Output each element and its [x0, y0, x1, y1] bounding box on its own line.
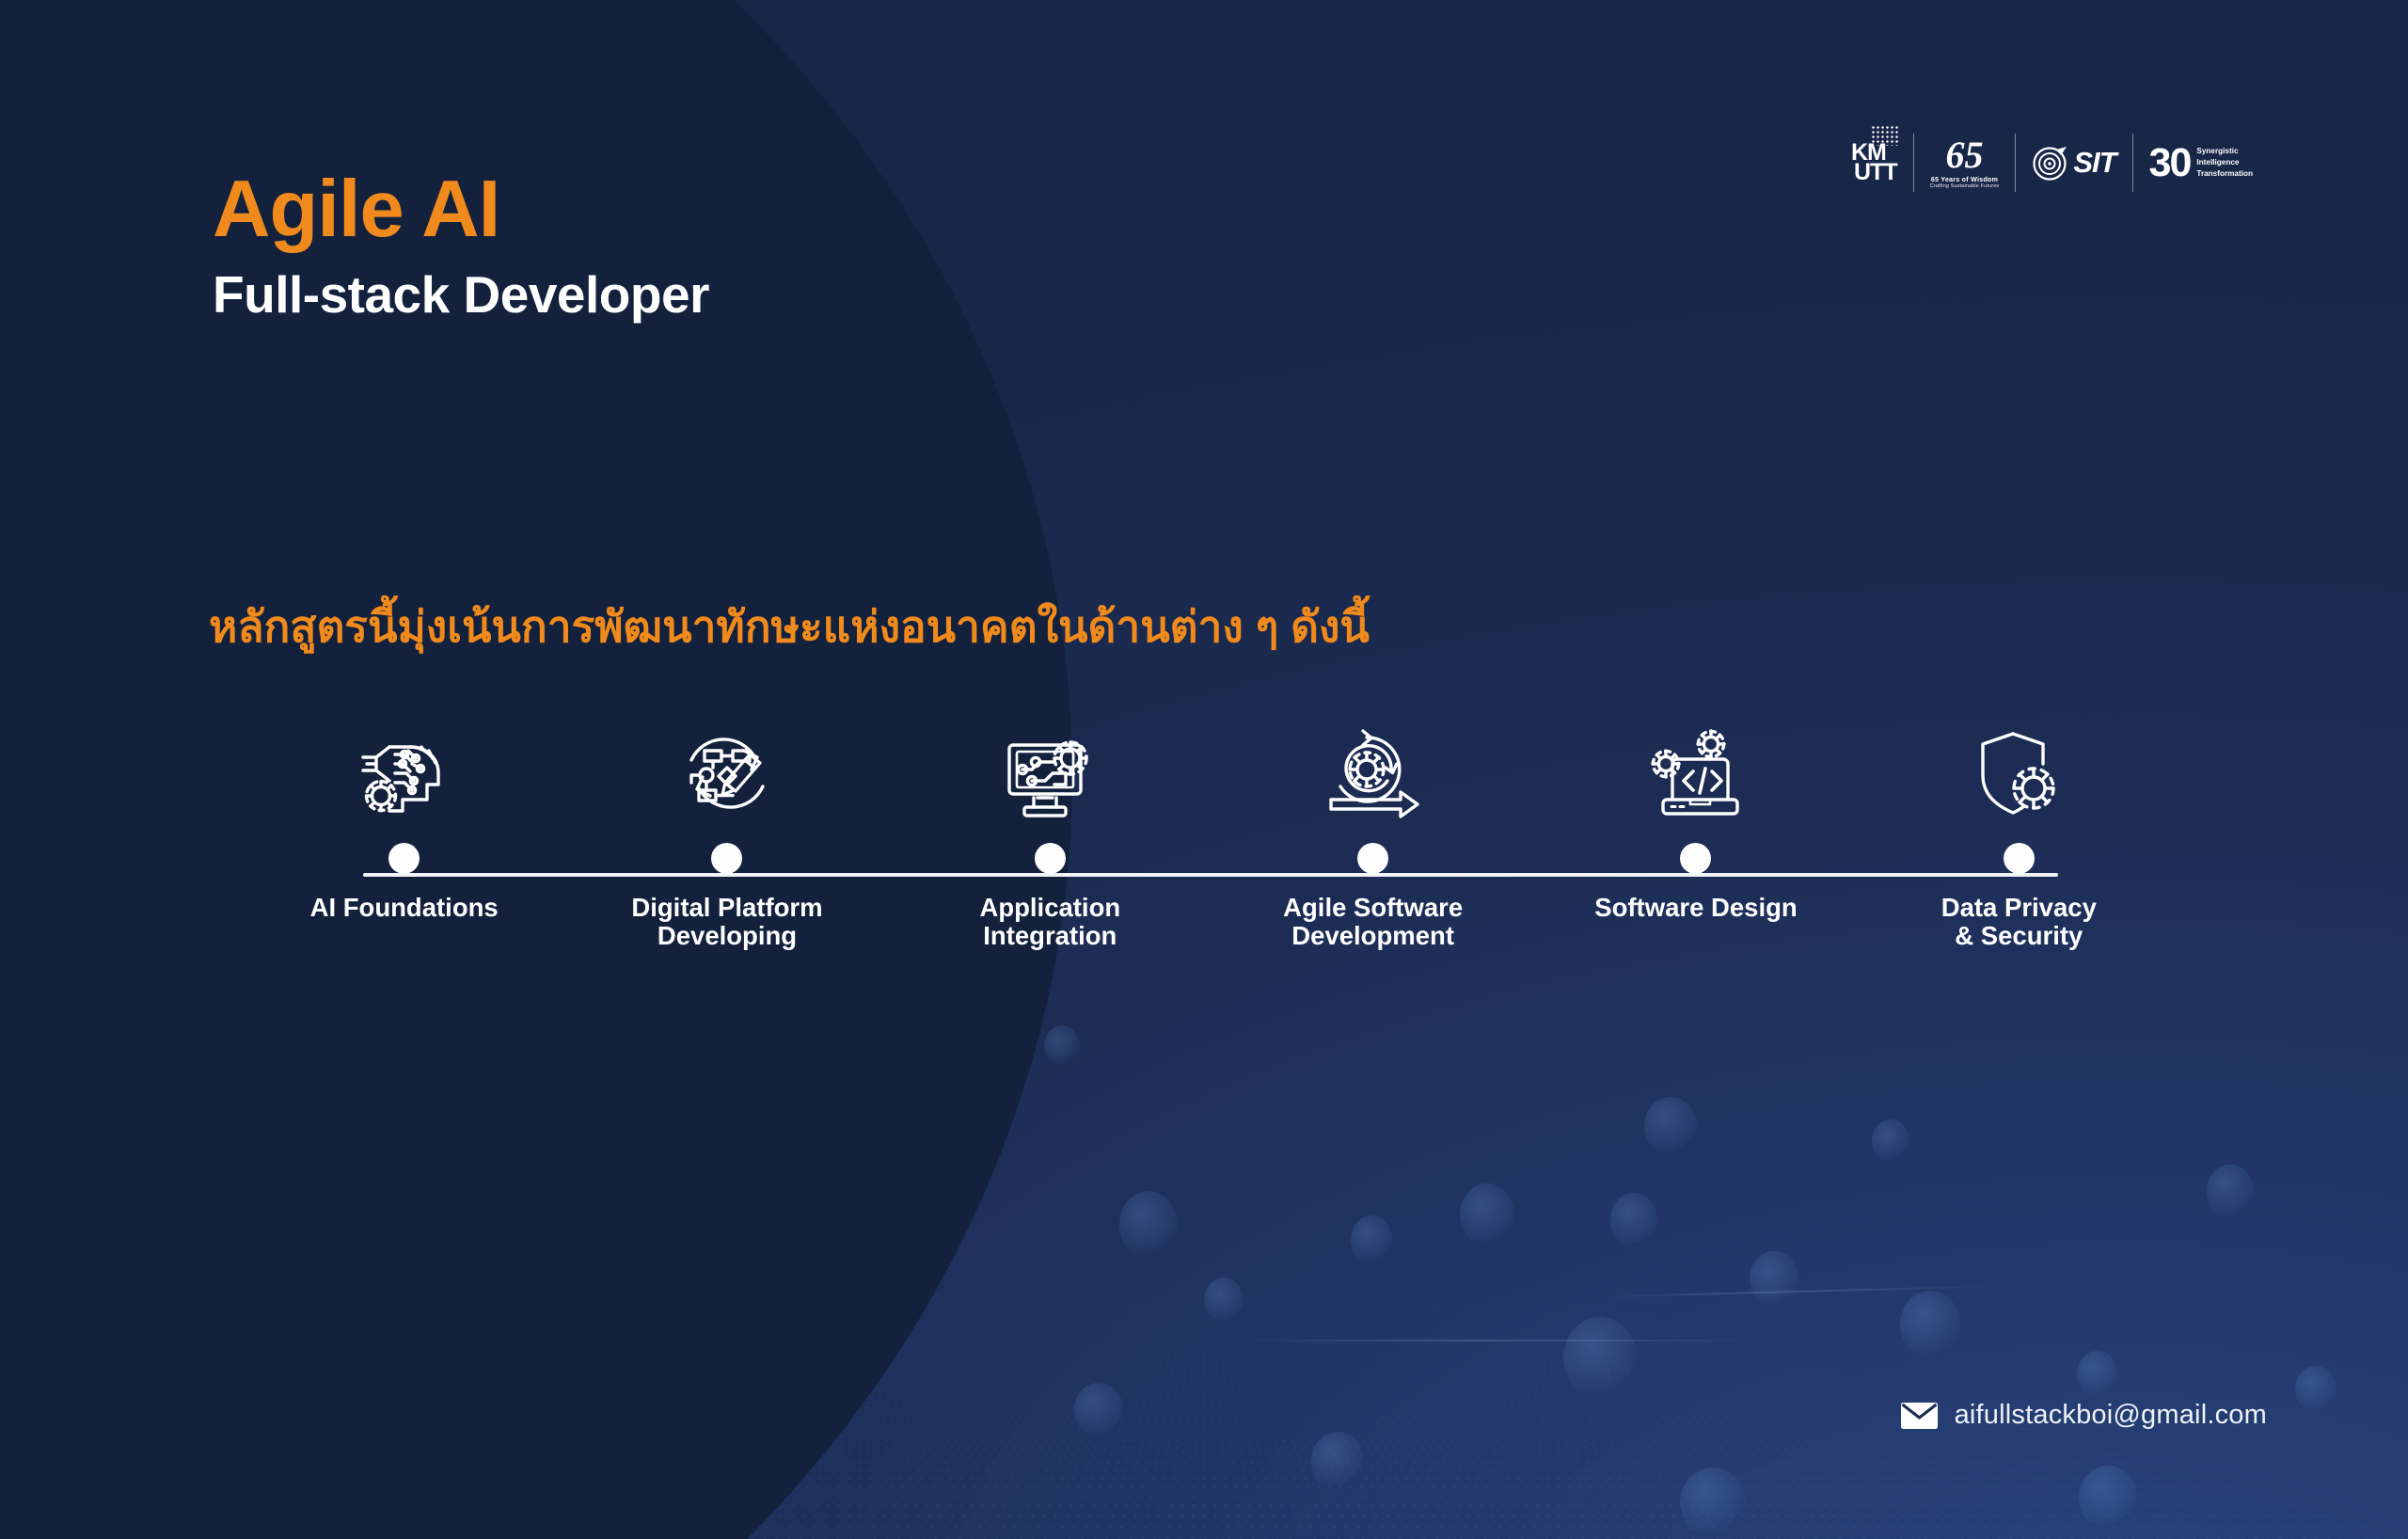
anniversary-30-tagline-2: Intelligence: [2196, 158, 2253, 167]
contact-email[interactable]: aifullstackboi@gmail.com: [1901, 1400, 2267, 1431]
title-block: Agile AI Full-stack Developer: [213, 169, 709, 325]
anniversary-30-mark: 30 Synergistic Intelligence Transformati…: [2149, 143, 2253, 183]
timeline-dot: [1035, 843, 1066, 874]
logo-sit: SIT: [2016, 132, 2131, 194]
anniversary-65-tagline-2: Crafting Sustainable Futures: [1930, 183, 2000, 189]
laptop-code-gears-icon: [1644, 715, 1748, 820]
timeline: AI Foundations: [243, 715, 2180, 997]
slide-canvas: Agile AI Full-stack Developer KM UTT 65 …: [0, 0, 2408, 1539]
logo-30-sit: 30 Synergistic Intelligence Transformati…: [2133, 132, 2269, 194]
timeline-steps: AI Foundations: [243, 715, 2180, 997]
timeline-step-label: Data Privacy & Security: [1941, 894, 2097, 949]
timeline-dot: [1357, 843, 1388, 874]
anniversary-65-tagline-1: 65 Years of Wisdom: [1931, 175, 1998, 183]
thai-headline: หลักสูตรนี้มุ่งเน้นการพัฒนาทักษะแห่งอนาค…: [209, 593, 1370, 661]
email-address: aifullstackboi@gmail.com: [1955, 1400, 2267, 1431]
logo-kmutt: KM UTT: [1835, 132, 1913, 194]
shield-gear-icon: [1970, 715, 2067, 820]
timeline-step-label: Software Design: [1594, 894, 1797, 922]
timeline-dot: [388, 843, 420, 874]
timeline-dot: [2004, 843, 2035, 874]
timeline-step[interactable]: Application Integration: [889, 715, 1212, 997]
timeline-step-label: Digital Platform Developing: [631, 894, 822, 949]
logo-65-years: 65 65 Years of Wisdom Crafting Sustainab…: [1914, 132, 2016, 194]
timeline-step[interactable]: Software Design: [1534, 715, 1857, 997]
timeline-dot: [711, 843, 742, 874]
anniversary-30-taglines: Synergistic Intelligence Transformation: [2196, 147, 2253, 178]
sit-swirl-icon: [2032, 144, 2069, 182]
timeline-step-label: AI Foundations: [310, 894, 499, 922]
anniversary-30-tagline-1: Synergistic: [2196, 147, 2253, 155]
envelope-icon: [1901, 1403, 1938, 1429]
kmutt-line-2: UTT: [1854, 163, 1897, 182]
logo-bar: KM UTT 65 65 Years of Wisdom Crafting Su…: [1835, 132, 2269, 194]
kmutt-dots-icon: [1871, 125, 1899, 146]
anniversary-65-mark: 65 65 Years of Wisdom Crafting Sustainab…: [1930, 137, 2000, 189]
ai-head-gear-icon: [356, 715, 453, 820]
page-title: Agile AI: [213, 169, 709, 251]
timeline-step-label: Application Integration: [979, 894, 1120, 949]
monitor-circuit-gear-icon: [1000, 715, 1100, 820]
sit-wordmark: SIT: [2032, 144, 2115, 182]
sit-text: SIT: [2073, 146, 2115, 180]
anniversary-65-number: 65: [1945, 137, 1983, 173]
flowchart-pencil-cycle-icon: [678, 715, 776, 820]
page-subtitle: Full-stack Developer: [213, 264, 709, 325]
anniversary-30-tagline-3: Transformation: [2196, 169, 2253, 178]
timeline-step[interactable]: Digital Platform Developing: [565, 715, 888, 997]
timeline-step[interactable]: Agile Software Development: [1212, 715, 1534, 997]
timeline-step-label: Agile Software Development: [1283, 894, 1463, 949]
kmutt-wordmark: KM UTT: [1851, 143, 1897, 182]
agile-wheel-arrow-icon: [1322, 715, 1425, 820]
timeline-step[interactable]: AI Foundations: [243, 715, 565, 997]
timeline-step[interactable]: Data Privacy & Security: [1858, 715, 2180, 997]
anniversary-30-number: 30: [2149, 143, 2191, 183]
timeline-dot: [1680, 843, 1711, 874]
